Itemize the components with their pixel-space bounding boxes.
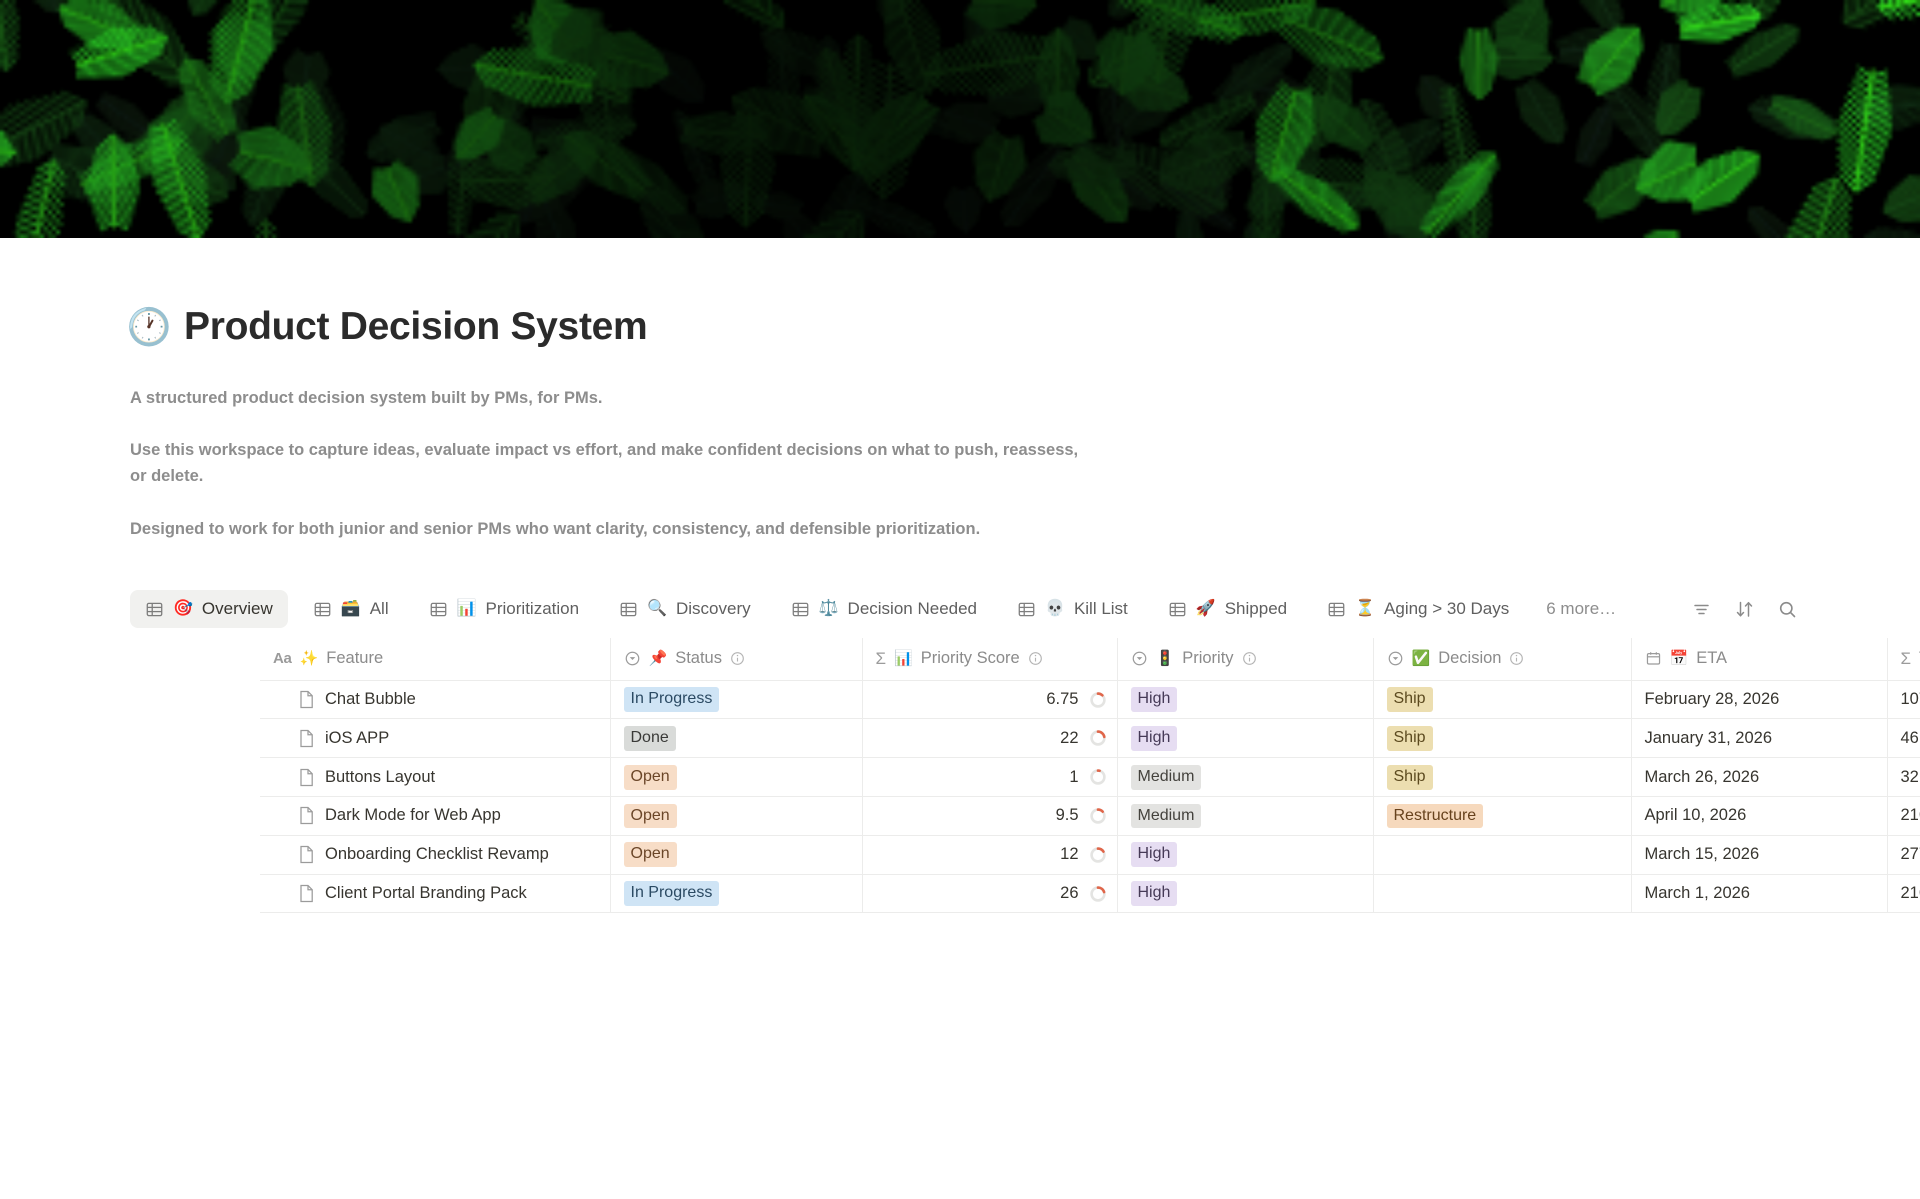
view-tab-shipped[interactable]: 🚀Shipped: [1153, 590, 1302, 628]
cell-decision[interactable]: [1373, 874, 1631, 913]
cell-status[interactable]: Done: [610, 719, 862, 758]
priority-badge: High: [1131, 881, 1178, 906]
cell-eta[interactable]: March 26, 2026: [1631, 758, 1887, 797]
info-icon[interactable]: [1028, 651, 1043, 666]
feature-name: Client Portal Branding Pack: [325, 884, 527, 903]
page-cover: [0, 0, 1920, 238]
cell-status[interactable]: In Progress: [610, 680, 862, 719]
view-tab-label: Discovery: [676, 599, 751, 619]
info-icon[interactable]: [1242, 651, 1257, 666]
status-badge: Done: [624, 726, 676, 751]
cell-priority-score[interactable]: 6.75: [862, 680, 1117, 719]
row-gutter: [130, 835, 260, 874]
view-tab-label: Prioritization: [486, 599, 580, 619]
duration-value: 32: [1901, 768, 1919, 787]
table-row[interactable]: Buttons LayoutOpen1 MediumShipMarch 26, …: [130, 758, 1920, 797]
status-badge: Open: [624, 804, 677, 829]
cell-priority[interactable]: High: [1117, 874, 1373, 913]
info-icon[interactable]: [1509, 651, 1524, 666]
column-label: Feature: [326, 649, 383, 668]
duration-value: 216: [1901, 806, 1920, 825]
page-description-1: A structured product decision system bui…: [130, 386, 1090, 412]
cell-total-duration[interactable]: 216: [1887, 797, 1920, 836]
row-gutter: [130, 680, 260, 719]
cell-feature[interactable]: Client Portal Branding Pack: [260, 874, 610, 913]
duration-value: 277: [1901, 845, 1920, 864]
priority-score-value: 9.5: [1056, 806, 1079, 825]
priority-badge: High: [1131, 726, 1178, 751]
document-icon: [298, 729, 315, 748]
table-row[interactable]: Onboarding Checklist RevampOpen12 HighMa…: [130, 835, 1920, 874]
duration-value: 216: [1901, 884, 1920, 903]
column-emoji: ✅: [1412, 651, 1431, 666]
priority-badge: High: [1131, 687, 1178, 712]
cell-total-duration[interactable]: 46: [1887, 719, 1920, 758]
column-header-status[interactable]: 📌Status: [610, 638, 862, 680]
cell-priority[interactable]: High: [1117, 835, 1373, 874]
cell-priority-score[interactable]: 12: [862, 835, 1117, 874]
priority-badge: Medium: [1131, 765, 1202, 790]
select-type-icon: [1387, 650, 1404, 667]
select-type-icon: [624, 650, 641, 667]
decision-badge: Ship: [1387, 687, 1433, 712]
cell-status[interactable]: Open: [610, 758, 862, 797]
decision-badge: Ship: [1387, 726, 1433, 751]
database-table: Aa✨Feature 📌Status Σ📊Priority Score 🚦Pri…: [130, 638, 1920, 913]
eta-date: March 15, 2026: [1645, 845, 1760, 864]
score-progress-ring: [1089, 768, 1107, 786]
status-badge: Open: [624, 765, 677, 790]
score-progress-ring: [1089, 729, 1107, 747]
view-tab-label: Overview: [202, 599, 273, 619]
cell-total-duration[interactable]: 277: [1887, 835, 1920, 874]
view-tab-label: Aging > 30 Days: [1384, 599, 1509, 619]
more-views-button[interactable]: 6 more…: [1534, 599, 1628, 619]
view-tab-overview[interactable]: 🎯Overview: [130, 590, 288, 628]
info-icon[interactable]: [730, 651, 745, 666]
date-type-icon: [1645, 650, 1662, 667]
score-progress-ring: [1089, 846, 1107, 864]
page-title-row: 🕐 Product Decision System: [130, 306, 1920, 349]
priority-score-value: 6.75: [1046, 690, 1078, 709]
formula-type-icon: Σ: [1901, 649, 1912, 669]
eta-date: March 26, 2026: [1645, 768, 1760, 787]
cell-decision[interactable]: Restructure: [1373, 797, 1631, 836]
cell-priority[interactable]: Medium: [1117, 758, 1373, 797]
priority-score-value: 22: [1060, 729, 1078, 748]
cell-total-duration[interactable]: 216: [1887, 874, 1920, 913]
view-tab-emoji: ⏳: [1355, 601, 1375, 617]
column-header-score[interactable]: Σ📊Priority Score: [862, 638, 1117, 680]
table-header-row: Aa✨Feature 📌Status Σ📊Priority Score 🚦Pri…: [130, 638, 1920, 680]
table-row[interactable]: Dark Mode for Web AppOpen9.5 MediumRestr…: [130, 797, 1920, 836]
cell-feature[interactable]: Buttons Layout: [260, 758, 610, 797]
duration-value: 46: [1901, 729, 1919, 748]
view-tab-kill-list[interactable]: 💀Kill List: [1002, 590, 1143, 628]
view-tab-label: All: [370, 599, 389, 619]
view-tab-prioritization[interactable]: 📊Prioritization: [414, 590, 594, 628]
eta-date: February 28, 2026: [1645, 690, 1780, 709]
cell-total-duration[interactable]: 32: [1887, 758, 1920, 797]
clock-icon: 🕐: [130, 308, 168, 346]
column-header-decision[interactable]: ✅Decision: [1373, 638, 1631, 680]
view-tab-emoji: 💀: [1045, 601, 1065, 617]
status-badge: Open: [624, 842, 677, 867]
document-icon: [298, 768, 315, 787]
select-type-icon: [1131, 650, 1148, 667]
cell-feature[interactable]: Dark Mode for Web App: [260, 797, 610, 836]
decision-badge: Ship: [1387, 765, 1433, 790]
cell-priority-score[interactable]: 1: [862, 758, 1117, 797]
cell-eta[interactable]: March 15, 2026: [1631, 835, 1887, 874]
document-icon: [298, 845, 315, 864]
column-label: ETA: [1696, 649, 1727, 668]
feature-name: Dark Mode for Web App: [325, 806, 501, 825]
cell-status[interactable]: Open: [610, 797, 862, 836]
feature-name: iOS APP: [325, 729, 389, 748]
view-tab-decision-needed[interactable]: ⚖️Decision Needed: [776, 590, 992, 628]
cell-priority[interactable]: Medium: [1117, 797, 1373, 836]
cell-eta[interactable]: January 31, 2026: [1631, 719, 1887, 758]
priority-score-value: 1: [1069, 768, 1078, 787]
eta-date: April 10, 2026: [1645, 806, 1747, 825]
view-toolbar: [1691, 599, 1802, 620]
page-description-2: Use this workspace to capture ideas, eva…: [130, 438, 1090, 489]
cell-feature[interactable]: Onboarding Checklist Revamp: [260, 835, 610, 874]
cell-feature[interactable]: Chat Bubble: [260, 680, 610, 719]
database-table-wrapper: Aa✨Feature 📌Status Σ📊Priority Score 🚦Pri…: [130, 638, 1920, 913]
view-tab-emoji: 📊: [457, 601, 477, 617]
search-icon[interactable]: [1777, 599, 1798, 620]
cell-feature[interactable]: iOS APP: [260, 719, 610, 758]
feature-name: Onboarding Checklist Revamp: [325, 845, 549, 864]
text-type-icon: Aa: [273, 650, 292, 667]
priority-score-value: 12: [1060, 845, 1078, 864]
view-tab-emoji: 🚀: [1196, 601, 1216, 617]
cell-decision[interactable]: [1373, 835, 1631, 874]
column-emoji: 📅: [1670, 651, 1689, 666]
column-emoji: 🚦: [1156, 651, 1175, 666]
score-progress-ring: [1089, 807, 1107, 825]
cell-status[interactable]: Open: [610, 835, 862, 874]
view-tab-label: Decision Needed: [848, 599, 977, 619]
document-icon: [298, 884, 315, 903]
decision-badge: Restructure: [1387, 804, 1484, 829]
document-icon: [298, 806, 315, 825]
column-header-duration[interactable]: ΣTotal Duration: [1887, 638, 1920, 680]
eta-date: January 31, 2026: [1645, 729, 1773, 748]
row-gutter: [130, 758, 260, 797]
cell-eta[interactable]: March 1, 2026: [1631, 874, 1887, 913]
column-label: Priority: [1182, 649, 1233, 668]
priority-badge: Medium: [1131, 804, 1202, 829]
view-tab-label: Kill List: [1074, 599, 1128, 619]
column-label: Status: [675, 649, 722, 668]
column-label: Decision: [1438, 649, 1501, 668]
view-tab-emoji: 🎯: [173, 601, 193, 617]
cell-decision[interactable]: Ship: [1373, 758, 1631, 797]
priority-badge: High: [1131, 842, 1178, 867]
cell-decision[interactable]: Ship: [1373, 719, 1631, 758]
priority-score-value: 26: [1060, 884, 1078, 903]
view-tab-aging-30-days[interactable]: ⏳Aging > 30 Days: [1312, 590, 1524, 628]
feature-name: Chat Bubble: [325, 690, 416, 709]
cell-eta[interactable]: April 10, 2026: [1631, 797, 1887, 836]
table-row[interactable]: Client Portal Branding PackIn Progress26…: [130, 874, 1920, 913]
view-tab-discovery[interactable]: 🔍Discovery: [604, 590, 766, 628]
view-tab-bar: 🎯Overview 🗃️All 📊Prioritization 🔍Discove…: [130, 588, 1920, 630]
row-gutter: [130, 797, 260, 836]
cell-priority-score[interactable]: 26: [862, 874, 1117, 913]
formula-type-icon: Σ: [876, 649, 887, 669]
eta-date: March 1, 2026: [1645, 884, 1750, 903]
cover-image: [0, 0, 1920, 238]
view-tab-emoji: ⚖️: [819, 601, 839, 617]
document-icon: [298, 690, 315, 709]
cell-priority-score[interactable]: 9.5: [862, 797, 1117, 836]
table-row[interactable]: Chat BubbleIn Progress6.75 HighShipFebru…: [130, 680, 1920, 719]
cell-eta[interactable]: February 28, 2026: [1631, 680, 1887, 719]
row-gutter: [130, 719, 260, 758]
column-header-priority[interactable]: 🚦Priority: [1117, 638, 1373, 680]
page-title[interactable]: Product Decision System: [184, 306, 647, 349]
cell-total-duration[interactable]: 107: [1887, 680, 1920, 719]
column-header-eta[interactable]: 📅ETA: [1631, 638, 1887, 680]
view-tab-label: Shipped: [1225, 599, 1287, 619]
status-badge: In Progress: [624, 881, 720, 906]
cell-decision[interactable]: Ship: [1373, 680, 1631, 719]
row-gutter: [130, 874, 260, 913]
score-progress-ring: [1089, 691, 1107, 709]
status-badge: In Progress: [624, 687, 720, 712]
view-tab-emoji: 🔍: [647, 601, 667, 617]
column-emoji: ✨: [300, 651, 319, 666]
sort-icon[interactable]: [1734, 599, 1755, 620]
view-tab-all[interactable]: 🗃️All: [298, 590, 404, 628]
column-header-feature[interactable]: Aa✨Feature: [260, 638, 610, 680]
page-content: 🕐 Product Decision System A structured p…: [0, 306, 1920, 913]
cell-priority-score[interactable]: 22: [862, 719, 1117, 758]
cell-priority[interactable]: High: [1117, 719, 1373, 758]
view-tab-emoji: 🗃️: [341, 601, 361, 617]
cell-priority[interactable]: High: [1117, 680, 1373, 719]
page-description-3: Designed to work for both junior and sen…: [130, 517, 1090, 543]
table-gutter-header: [130, 638, 260, 680]
column-emoji: 📌: [649, 651, 668, 666]
feature-name: Buttons Layout: [325, 768, 435, 787]
table-row[interactable]: iOS APPDone22 HighShipJanuary 31, 202646: [130, 719, 1920, 758]
column-emoji: 📊: [894, 651, 913, 666]
duration-value: 107: [1901, 690, 1920, 709]
filter-icon[interactable]: [1691, 599, 1712, 620]
column-label: Priority Score: [921, 649, 1020, 668]
cell-status[interactable]: In Progress: [610, 874, 862, 913]
score-progress-ring: [1089, 885, 1107, 903]
